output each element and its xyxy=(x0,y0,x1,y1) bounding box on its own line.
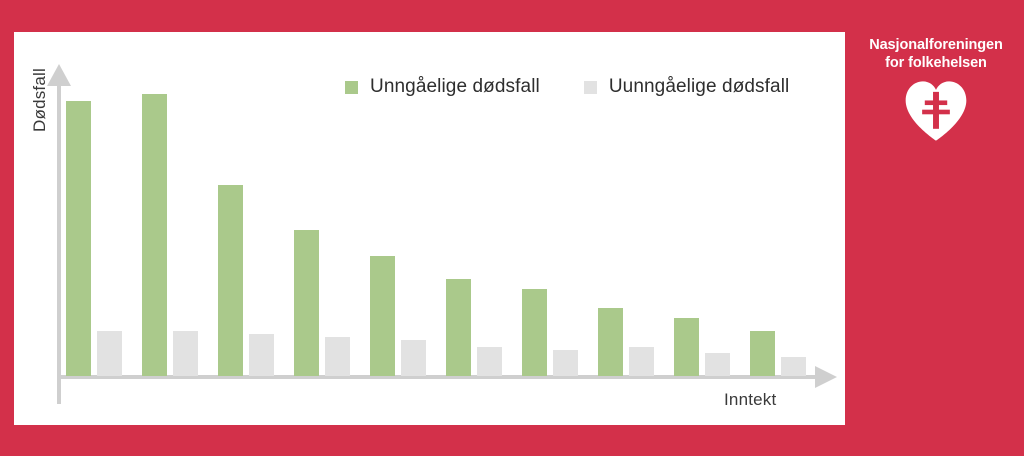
bar-uunngaelige-dodsfall xyxy=(249,334,274,376)
bar-group xyxy=(61,52,127,376)
organisation-logo: Nasjonalforeningen for folkehelsen xyxy=(860,36,1012,142)
bar-uunngaelige-dodsfall xyxy=(173,331,198,376)
chart-panel: Dødsfall Inntekt Unngåelige dødsfall Uun… xyxy=(14,32,845,425)
bar-uunngaelige-dodsfall xyxy=(401,340,426,376)
bar-unngaelige-dodsfall xyxy=(446,279,471,376)
bar-unngaelige-dodsfall xyxy=(66,101,91,376)
plot-area xyxy=(61,52,821,376)
bar-uunngaelige-dodsfall xyxy=(477,347,502,376)
legend-label: Unngåelige dødsfall xyxy=(370,76,540,98)
bar-unngaelige-dodsfall xyxy=(294,230,319,376)
y-axis-label: Dødsfall xyxy=(30,56,50,144)
bar-group xyxy=(137,52,203,376)
bar-unngaelige-dodsfall xyxy=(750,331,775,376)
bar-uunngaelige-dodsfall xyxy=(705,353,730,376)
bar-group xyxy=(441,52,507,376)
square-swatch-icon xyxy=(584,81,597,94)
chart-figure: Dødsfall Inntekt Unngåelige dødsfall Uun… xyxy=(0,0,1024,456)
bar-unngaelige-dodsfall xyxy=(218,185,243,376)
bar-group xyxy=(289,52,355,376)
bar-group xyxy=(745,52,811,376)
chart-legend: Unngåelige dødsfall Uunngåelige dødsfall xyxy=(345,76,789,98)
logo-line-1: Nasjonalforeningen xyxy=(860,36,1012,54)
bar-uunngaelige-dodsfall xyxy=(325,337,350,376)
x-axis-label: Inntekt xyxy=(724,390,776,410)
bar-group xyxy=(517,52,583,376)
bar-group xyxy=(365,52,431,376)
legend-item-uunngaelige: Uunngåelige dødsfall xyxy=(584,76,790,98)
bar-group xyxy=(213,52,279,376)
bar-uunngaelige-dodsfall xyxy=(97,331,122,376)
bar-group xyxy=(669,52,735,376)
bar-uunngaelige-dodsfall xyxy=(781,357,806,376)
bar-unngaelige-dodsfall xyxy=(370,256,395,376)
bar-unngaelige-dodsfall xyxy=(522,289,547,376)
bar-unngaelige-dodsfall xyxy=(598,308,623,376)
heart-with-lorraine-cross-icon xyxy=(903,80,969,142)
bar-uunngaelige-dodsfall xyxy=(553,350,578,376)
bar-uunngaelige-dodsfall xyxy=(629,347,654,376)
bar-group xyxy=(593,52,659,376)
legend-label: Uunngåelige dødsfall xyxy=(609,76,790,98)
legend-item-unngaelige: Unngåelige dødsfall xyxy=(345,76,540,98)
square-swatch-icon xyxy=(345,81,358,94)
logo-line-2: for folkehelsen xyxy=(860,54,1012,72)
bar-unngaelige-dodsfall xyxy=(142,94,167,376)
bar-unngaelige-dodsfall xyxy=(674,318,699,376)
